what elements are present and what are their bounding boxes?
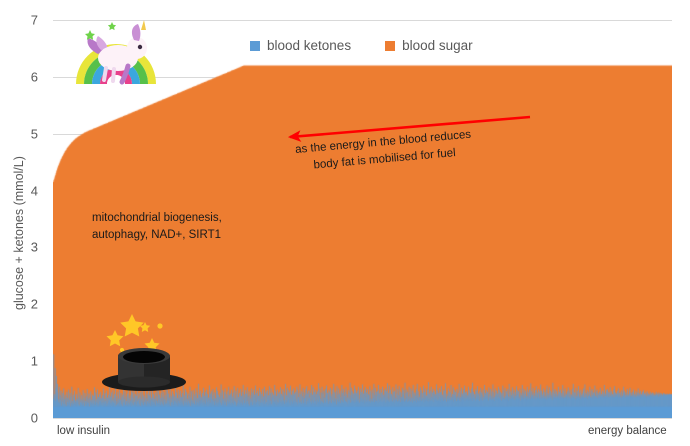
- y-tick-label-1: 1: [14, 355, 38, 368]
- y-tick-label-7: 7: [14, 14, 38, 27]
- x-axis-label-low-insulin: low insulin: [57, 425, 110, 437]
- annotation-metabolic-pathways: mitochondrial biogenesis, autophagy, NAD…: [92, 210, 222, 243]
- y-tick-label-0: 0: [14, 412, 38, 425]
- legend-swatch-blood-ketones: [250, 41, 260, 51]
- chart-container: glucose + ketones (mmol/L) 76543210 low …: [0, 0, 690, 446]
- legend-label-blood-sugar: blood sugar: [402, 38, 473, 53]
- unicorn-rainbow-image: [68, 14, 164, 86]
- legend-entry-blood-ketones[interactable]: blood ketones: [250, 38, 351, 53]
- annotation-metabolic-line-2: autophagy, NAD+, SIRT1: [92, 227, 222, 244]
- y-tick-label-5: 5: [14, 127, 38, 140]
- y-axis-title: glucose + ketones (mmol/L): [12, 156, 26, 310]
- legend-entry-blood-sugar[interactable]: blood sugar: [385, 38, 473, 53]
- x-axis-label-energy-balance: energy balance: [588, 425, 667, 437]
- x-axis-line: [53, 418, 672, 419]
- y-tick-label-2: 2: [14, 298, 38, 311]
- y-tick-label-4: 4: [14, 184, 38, 197]
- y-tick-label-3: 3: [14, 241, 38, 254]
- annotation-metabolic-line-1: mitochondrial biogenesis,: [92, 210, 222, 227]
- legend-swatch-blood-sugar: [385, 41, 395, 51]
- chart-legend: blood ketones blood sugar: [250, 38, 473, 53]
- magic-top-hat-image: [98, 300, 190, 392]
- legend-label-blood-ketones: blood ketones: [267, 38, 351, 53]
- y-tick-label-6: 6: [14, 70, 38, 83]
